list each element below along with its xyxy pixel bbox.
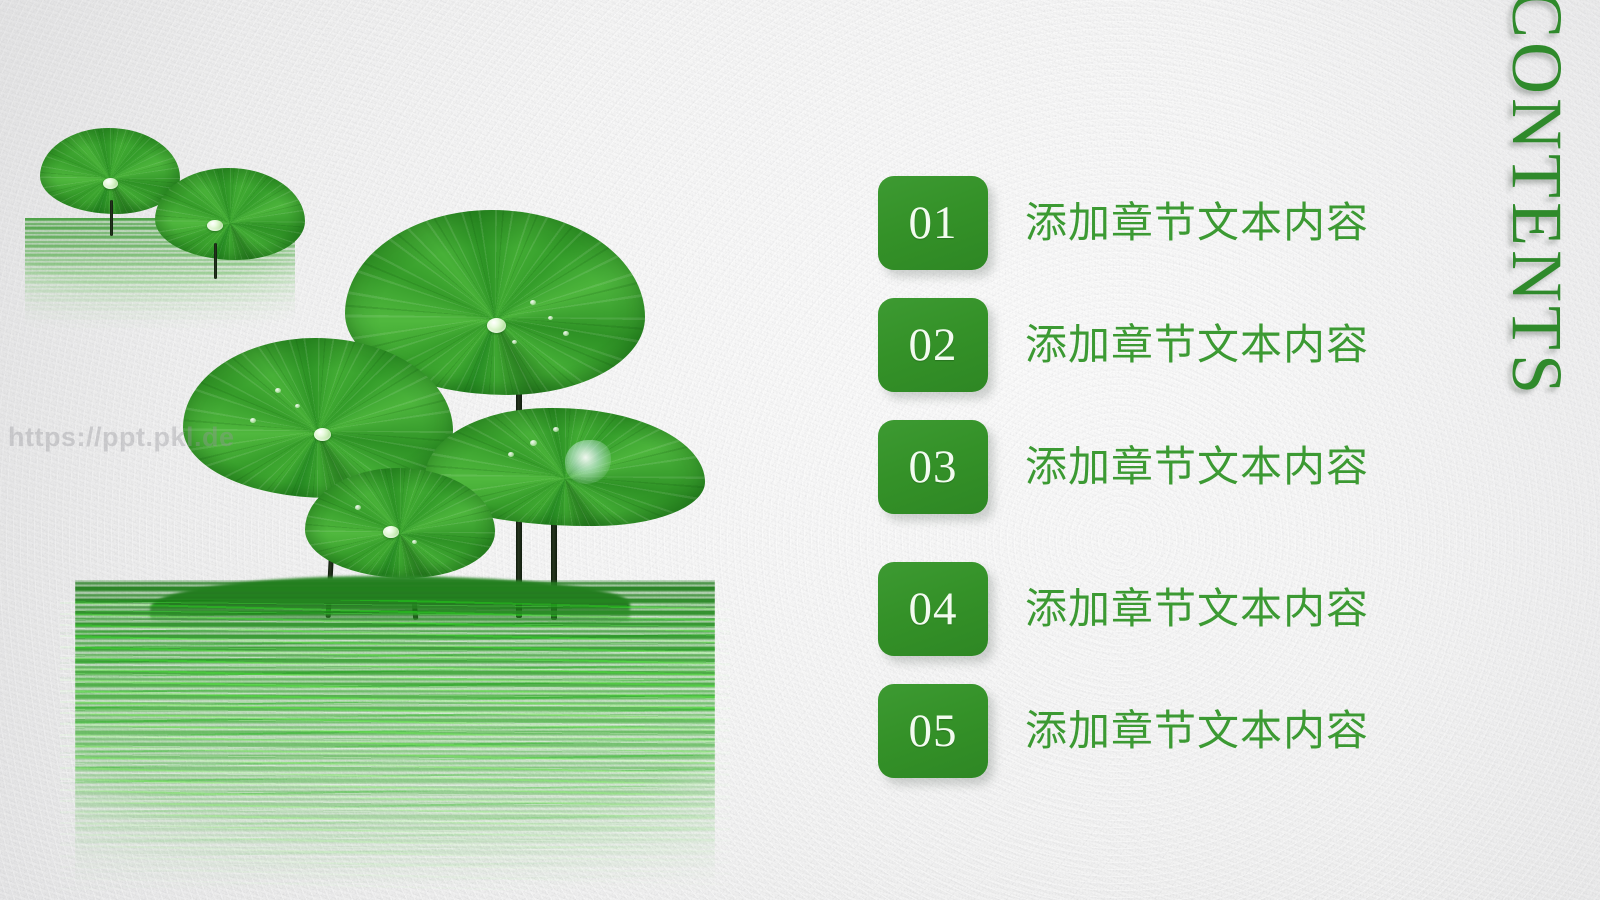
water-droplet [487,318,506,333]
contents-row-03[interactable]: 03 添加章节文本内容 [878,420,1438,514]
contents-badge-02[interactable]: 02 [878,298,988,392]
contents-number-05: 05 [909,708,958,755]
water-ripple-streaks [60,600,730,890]
contents-row-04[interactable]: 04 添加章节文本内容 [878,562,1438,656]
water-droplet-small [295,404,300,408]
contents-label-01: 添加章节文本内容 [1025,202,1369,244]
contents-label-04: 添加章节文本内容 [1025,588,1369,630]
contents-badge-04[interactable]: 04 [878,562,988,656]
water-droplet-small [412,540,417,544]
water-droplet-small [508,452,514,457]
water-droplet-small [548,316,553,320]
water-reflection [75,580,715,890]
contents-number-04: 04 [909,586,958,633]
lotus-leaf-lower-small [305,468,495,578]
watermark-url: https://ppt.pkl.de [8,422,234,453]
contents-number-01: 01 [909,200,958,247]
contents-row-01[interactable]: 01 添加章节文本内容 [878,176,1438,270]
contents-vertical-title: CONTENTS [1482,46,1592,346]
lotus-stem [551,480,557,620]
water-droplet-small [553,427,559,432]
contents-vertical-title-text: CONTENTS [1501,0,1573,398]
water-droplet-small [530,440,537,446]
contents-label-03: 添加章节文本内容 [1025,446,1369,488]
contents-number-02: 02 [909,322,958,369]
lotus-stem [403,498,419,620]
lotus-stem [516,370,522,618]
water-splash [565,440,611,484]
small-leaf-reflection [25,218,295,328]
water-droplet-small [355,505,361,510]
contents-label-05: 添加章节文本内容 [1025,710,1369,752]
contents-number-03: 03 [909,444,958,491]
water-bank [150,576,630,622]
contents-row-02[interactable]: 02 添加章节文本内容 [878,298,1438,392]
water-droplet-small [530,300,536,305]
contents-row-05[interactable]: 05 添加章节文本内容 [878,684,1438,778]
lotus-stem [326,450,340,618]
water-droplet-small [275,388,281,393]
water-droplet [383,526,399,538]
water-droplet [103,178,118,189]
lotus-leaf-large-top [345,210,645,395]
contents-label-02: 添加章节文本内容 [1025,324,1369,366]
lotus-stem [110,200,113,236]
water-droplet-small [512,340,517,344]
lotus-leaf-left-mid [183,338,453,498]
water-droplet-small [250,418,256,423]
slide-canvas: https://ppt.pkl.de 01 添加章节文本内容 02 添加章节文本… [0,0,1600,900]
lotus-leaf-small-near [155,168,305,260]
water-droplet [207,220,223,231]
contents-badge-05[interactable]: 05 [878,684,988,778]
water-droplet [314,428,331,441]
contents-list: 01 添加章节文本内容 02 添加章节文本内容 03 添加章节文本内容 04 添… [878,176,1438,806]
lotus-leaf-right-mid [425,408,705,526]
lotus-leaf-small-far [40,128,180,214]
contents-badge-03[interactable]: 03 [878,420,988,514]
contents-badge-01[interactable]: 01 [878,176,988,270]
water-droplet-small [563,331,569,336]
lotus-stem [214,243,217,279]
